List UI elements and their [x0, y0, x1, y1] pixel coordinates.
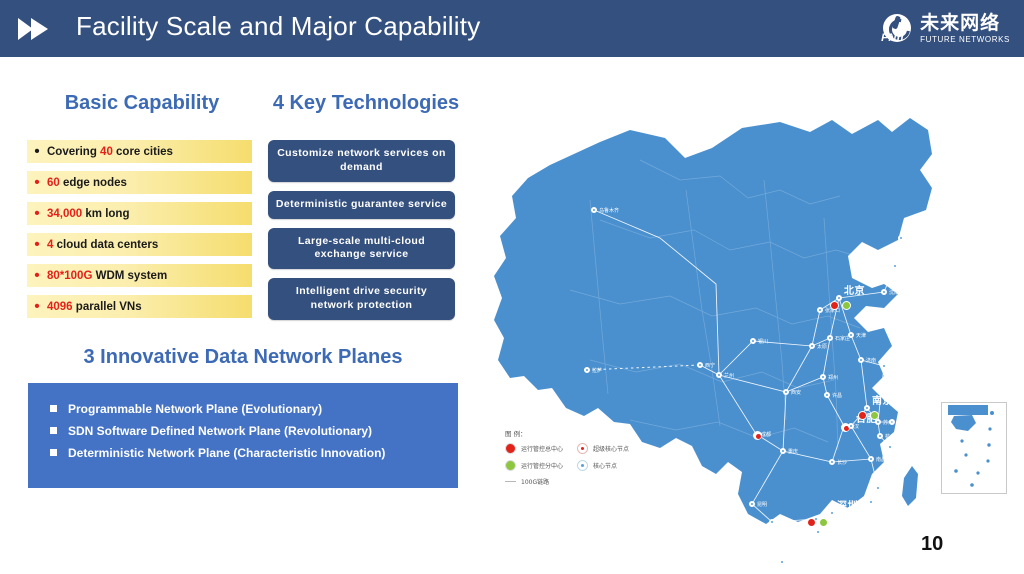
bullet-icon: • — [27, 299, 47, 314]
capability-row: •4 cloud data centers — [27, 233, 252, 256]
logo-name-en: FUTURE NETWORKS — [920, 36, 1010, 44]
map-node-marker[interactable] — [887, 444, 893, 450]
city-label: 长沙 — [837, 459, 847, 466]
legend-column-left: 运行管控总中心运行管控分中心100G链路 — [505, 443, 563, 486]
map-node-marker[interactable] — [881, 289, 887, 295]
key-technology-box[interactable]: Customize network services on demand — [268, 140, 455, 182]
bullet-icon: • — [27, 175, 47, 190]
key-technology-box[interactable]: Large-scale multi-cloud exchange service — [268, 228, 455, 270]
network-plane-item: SDN Software Defined Network Plane (Revo… — [28, 422, 458, 440]
map-node-marker[interactable] — [769, 519, 775, 525]
city-label: 济南 — [866, 357, 876, 364]
network-planes-panel: Programmable Network Plane (Evolutionary… — [28, 383, 458, 488]
map-node-marker[interactable] — [817, 307, 823, 313]
legend-item: 100G链路 — [505, 477, 563, 486]
network-plane-label: Deterministic Network Plane (Characteris… — [68, 444, 385, 462]
inset-graphic — [942, 403, 1006, 493]
map-node-marker[interactable] — [697, 362, 703, 368]
city-label: 福州 — [883, 485, 893, 492]
capability-row: •80*100G WDM system — [27, 264, 252, 287]
heading-basic-capability: Basic Capability — [62, 92, 222, 115]
capability-row: •Covering 40 core cities — [27, 140, 252, 163]
map-node-marker[interactable] — [829, 510, 835, 516]
city-label: 珠海 — [823, 529, 833, 536]
city-label: 长春 — [900, 263, 910, 270]
map-node-marker[interactable] — [780, 448, 786, 454]
map-node-marker[interactable] — [848, 423, 854, 429]
legend-red-dot-icon — [505, 443, 516, 454]
key-technology-box[interactable]: Intelligent drive security network prote… — [268, 278, 455, 320]
bullet-icon: • — [27, 237, 47, 252]
capability-row: •4096 parallel VNs — [27, 295, 252, 318]
page-title: Facility Scale and Major Capability — [76, 11, 480, 42]
operation-control-sub-center-marker[interactable] — [870, 411, 879, 420]
map-node-marker[interactable] — [877, 433, 883, 439]
legend-core-node-dot-icon — [577, 460, 588, 471]
city-label: 许昌 — [832, 392, 842, 399]
city-label: 重庆 — [788, 448, 798, 455]
square-bullet-icon — [50, 449, 57, 456]
operation-control-sub-center-marker[interactable] — [842, 301, 851, 310]
capability-label: 4 cloud data centers — [47, 239, 158, 251]
city-label: 郑州 — [828, 374, 838, 381]
capability-row: •60 edge nodes — [27, 171, 252, 194]
city-label: 天津 — [856, 332, 866, 339]
capability-label: 4096 parallel VNs — [47, 301, 142, 313]
map-node-marker[interactable] — [848, 332, 854, 338]
map-node-marker[interactable] — [868, 499, 874, 505]
legend-super-node-dot-icon — [577, 443, 588, 454]
map-node-marker[interactable] — [827, 335, 833, 341]
legend-label: 核心节点 — [593, 461, 617, 470]
city-label: 太原 — [817, 343, 827, 350]
map-node-marker[interactable] — [868, 456, 874, 462]
city-label: 苏州 — [883, 419, 893, 426]
legend-column-right: 超级核心节点核心节点 — [577, 443, 629, 486]
legend-label: 超级核心节点 — [593, 444, 629, 453]
bullet-icon: • — [27, 144, 47, 159]
city-label: 杭州 — [885, 433, 895, 440]
map-node-marker[interactable] — [815, 529, 821, 535]
operation-control-main-center-marker[interactable] — [807, 518, 816, 527]
taiwan-island — [902, 466, 918, 506]
basic-capability-list: •Covering 40 core cities•60 edge nodes•3… — [27, 140, 252, 326]
map-legend: 图 例： 运行管控总中心运行管控分中心100G链路 超级核心节点核心节点 — [505, 428, 655, 486]
map-node-marker[interactable] — [783, 389, 789, 395]
key-technologies-list: Customize network services on demandDete… — [268, 140, 455, 329]
capability-label: Covering 40 core cities — [47, 146, 173, 158]
heading-network-planes: 3 Innovative Data Network Planes — [28, 346, 458, 369]
legend-item: 超级核心节点 — [577, 443, 629, 454]
map-node-marker[interactable] — [591, 207, 597, 213]
city-label: 南宁 — [777, 519, 787, 526]
slide-header: Facility Scale and Major Capability FNII… — [0, 0, 1024, 57]
map-node-marker[interactable] — [892, 263, 898, 269]
map-node-marker[interactable] — [829, 459, 835, 465]
legend-item: 运行管控总中心 — [505, 443, 563, 454]
legend-line-icon — [505, 481, 516, 482]
legend-label: 运行管控分中心 — [521, 461, 563, 470]
capability-label: 60 edge nodes — [47, 177, 127, 189]
capability-label: 34,000 km long — [47, 208, 129, 220]
map-node-marker[interactable] — [716, 372, 722, 378]
city-label: 南京 — [872, 392, 893, 407]
fnii-mark-icon: FNII — [883, 14, 913, 44]
map-node-marker[interactable] — [779, 559, 785, 565]
operation-control-main-center-marker[interactable] — [858, 411, 867, 420]
city-label: 宁波 — [895, 444, 905, 451]
map-node-marker[interactable] — [836, 295, 842, 301]
map-node-marker[interactable] — [749, 501, 755, 507]
city-label: 乌鲁木齐 — [599, 207, 619, 214]
legend-label: 100G链路 — [521, 477, 549, 486]
city-label: 西宁 — [705, 362, 715, 369]
operation-control-main-center-marker[interactable] — [830, 301, 839, 310]
city-label: 成都 — [761, 431, 771, 438]
map-node-marker[interactable] — [820, 374, 826, 380]
map-node-marker[interactable] — [875, 419, 881, 425]
square-bullet-icon — [50, 427, 57, 434]
logo-name-cn: 未来网络 — [920, 14, 1010, 33]
map-node-marker[interactable] — [584, 367, 590, 373]
page-number: 10 — [921, 533, 943, 556]
heading-key-technologies: 4 Key Technologies — [270, 92, 462, 115]
legend-title: 图 例： — [505, 428, 655, 438]
logo-abbr: FNII — [881, 32, 904, 44]
map-node-marker[interactable] — [881, 363, 887, 369]
map-node-marker[interactable] — [898, 235, 904, 241]
city-label: 海口 — [787, 559, 797, 566]
city-label: 上海 — [897, 419, 907, 426]
key-technology-box[interactable]: Deterministic guarantee service — [268, 191, 455, 219]
operation-control-sub-center-marker[interactable] — [819, 518, 828, 527]
bullet-icon: • — [27, 268, 47, 283]
network-plane-label: Programmable Network Plane (Evolutionary… — [68, 400, 322, 418]
city-label: 拉萨 — [592, 367, 602, 374]
city-label: 昆明 — [757, 501, 767, 508]
city-label: 沈阳 — [889, 289, 899, 296]
map-node-marker[interactable] — [858, 357, 864, 363]
legend-green-dot-icon — [505, 460, 516, 471]
brand-logo: FNII 未来网络 FUTURE NETWORKS — [883, 10, 1010, 48]
capability-row: •34,000 km long — [27, 202, 252, 225]
fast-forward-icon — [18, 16, 52, 42]
capability-label: 80*100G WDM system — [47, 270, 167, 282]
network-plane-item: Deterministic Network Plane (Characteris… — [28, 444, 458, 462]
city-label: 北京 — [844, 282, 865, 297]
city-label: 哈尔滨 — [906, 235, 921, 242]
legend-item: 核心节点 — [577, 460, 629, 471]
city-label: 兰州 — [724, 372, 734, 379]
legend-label: 运行管控总中心 — [521, 444, 563, 453]
map-node-marker[interactable] — [750, 338, 756, 344]
network-plane-item: Programmable Network Plane (Evolutionary… — [28, 383, 458, 418]
map-node-marker[interactable] — [875, 485, 881, 491]
city-label: 南昌 — [876, 456, 886, 463]
square-bullet-icon — [50, 405, 57, 412]
network-plane-label: SDN Software Defined Network Plane (Revo… — [68, 422, 372, 440]
city-label: 厦门 — [876, 499, 886, 506]
map-node-marker[interactable] — [824, 392, 830, 398]
slide: Facility Scale and Major Capability FNII… — [0, 0, 1024, 574]
city-label: 青岛 — [889, 363, 899, 370]
city-label: 深圳 — [837, 497, 858, 512]
map-node-marker[interactable] — [809, 343, 815, 349]
legend-item: 运行管控分中心 — [505, 460, 563, 471]
city-label: 西安 — [791, 389, 801, 396]
bullet-icon: • — [27, 206, 47, 221]
south-china-sea-inset — [941, 402, 1007, 494]
city-label: 银川 — [758, 338, 768, 345]
